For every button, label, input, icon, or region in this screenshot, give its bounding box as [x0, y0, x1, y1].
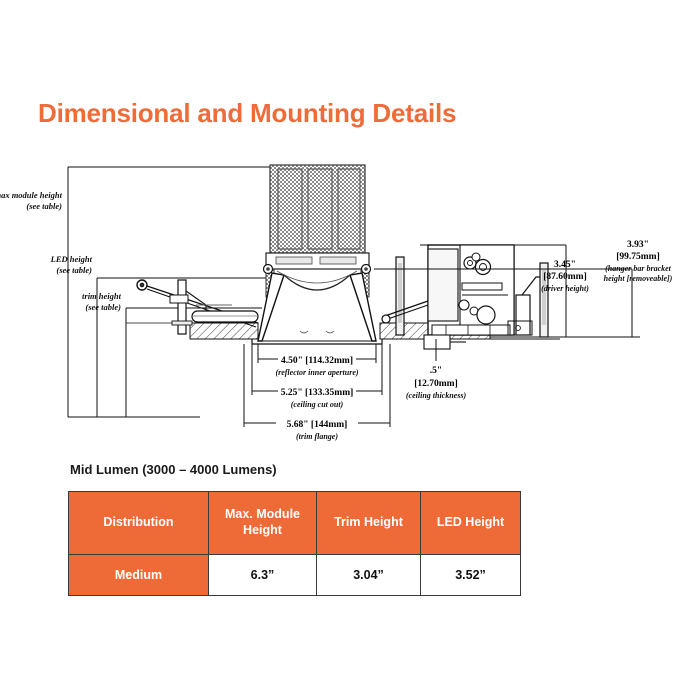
anno-trim-height-label: trim height — [82, 291, 122, 301]
table-row: Medium 6.3” 3.04” 3.52” — [69, 555, 521, 596]
col-header-max-module-height: Max. Module Height — [209, 492, 317, 555]
cell-distribution: Medium — [69, 555, 209, 596]
dim-driver-height-mm: [87.60mm] — [543, 272, 587, 282]
dim-ceiling-thickness-mm: [12.70mm] — [414, 379, 458, 389]
reflector-detail-marks — [300, 331, 334, 333]
left-annotation-led-height: LED height (see table) — [50, 254, 93, 275]
cell-max-module-height: 6.3” — [209, 555, 317, 596]
dim-hanger-bracket-mm: [99.75mm] — [616, 252, 660, 262]
table-caption: Mid Lumen (3000 – 4000 Lumens) — [70, 462, 277, 477]
anno-max-module-height-label: max module height — [0, 190, 63, 200]
cell-trim-height: 3.04” — [317, 555, 421, 596]
dim-reflector-inner-aperture: 4.50" [114.32mm] (reflector inner apertu… — [275, 356, 358, 377]
left-annotation-trim-height: trim height (see table) — [82, 291, 122, 312]
dim-cutout-note: (ceiling cut out) — [291, 400, 344, 409]
dim-ceiling-thickness-inch: .5" — [430, 366, 442, 376]
page-title: Dimensional and Mounting Details — [38, 98, 456, 129]
dim-cutout-value: 5.25" [133.35mm] — [281, 388, 354, 398]
dim-ceiling-thickness: .5" [12.70mm] (ceiling thickness) — [406, 366, 467, 400]
dim-aperture-note: (reflector inner aperture) — [275, 368, 358, 377]
dim-trim-flange-note: (trim flange) — [296, 432, 338, 441]
left-annotation-max-module-height: max module height (see table) — [0, 190, 63, 211]
dim-hanger-bracket-note-1: (hanger bar bracket — [605, 264, 672, 273]
dim-driver-height-note: (driver height) — [541, 284, 589, 293]
table-header-row: Distribution Max. Module Height Trim Hei… — [69, 492, 521, 555]
dim-hanger-bracket-inch: 3.93" — [627, 240, 649, 250]
dim-hanger-bar-bracket-height: 3.93" [99.75mm] (hanger bar bracket heig… — [604, 240, 673, 283]
bottom-extension-lines — [244, 339, 436, 427]
col-header-led-height: LED Height — [421, 492, 521, 555]
dim-trim-flange: 5.68" [144mm] (trim flange) — [287, 420, 348, 441]
anno-led-height-note: (see table) — [56, 265, 92, 275]
anno-led-height-label: LED height — [50, 254, 93, 264]
dimensional-drawing: max module height (see table) LED height… — [0, 145, 700, 445]
dim-ceiling-cut-out: 5.25" [133.35mm] (ceiling cut out) — [281, 388, 354, 409]
driver-housing-box — [428, 245, 514, 335]
dim-ceiling-thickness-note: (ceiling thickness) — [406, 391, 467, 400]
dim-trim-flange-value: 5.68" [144mm] — [287, 420, 348, 430]
dim-driver-height-inch: 3.45" — [554, 260, 576, 270]
spec-table: Distribution Max. Module Height Trim Hei… — [68, 491, 521, 596]
cell-led-height: 3.52” — [421, 555, 521, 596]
anno-trim-height-note: (see table) — [85, 302, 121, 312]
dim-aperture-value: 4.50" [114.32mm] — [281, 356, 353, 366]
col-header-trim-height: Trim Height — [317, 492, 421, 555]
col-header-distribution: Distribution — [69, 492, 209, 555]
anno-max-module-height-note: (see table) — [26, 201, 62, 211]
reflector-cone — [252, 271, 382, 344]
dim-hanger-bracket-note-2: height [removeable]) — [604, 274, 673, 283]
